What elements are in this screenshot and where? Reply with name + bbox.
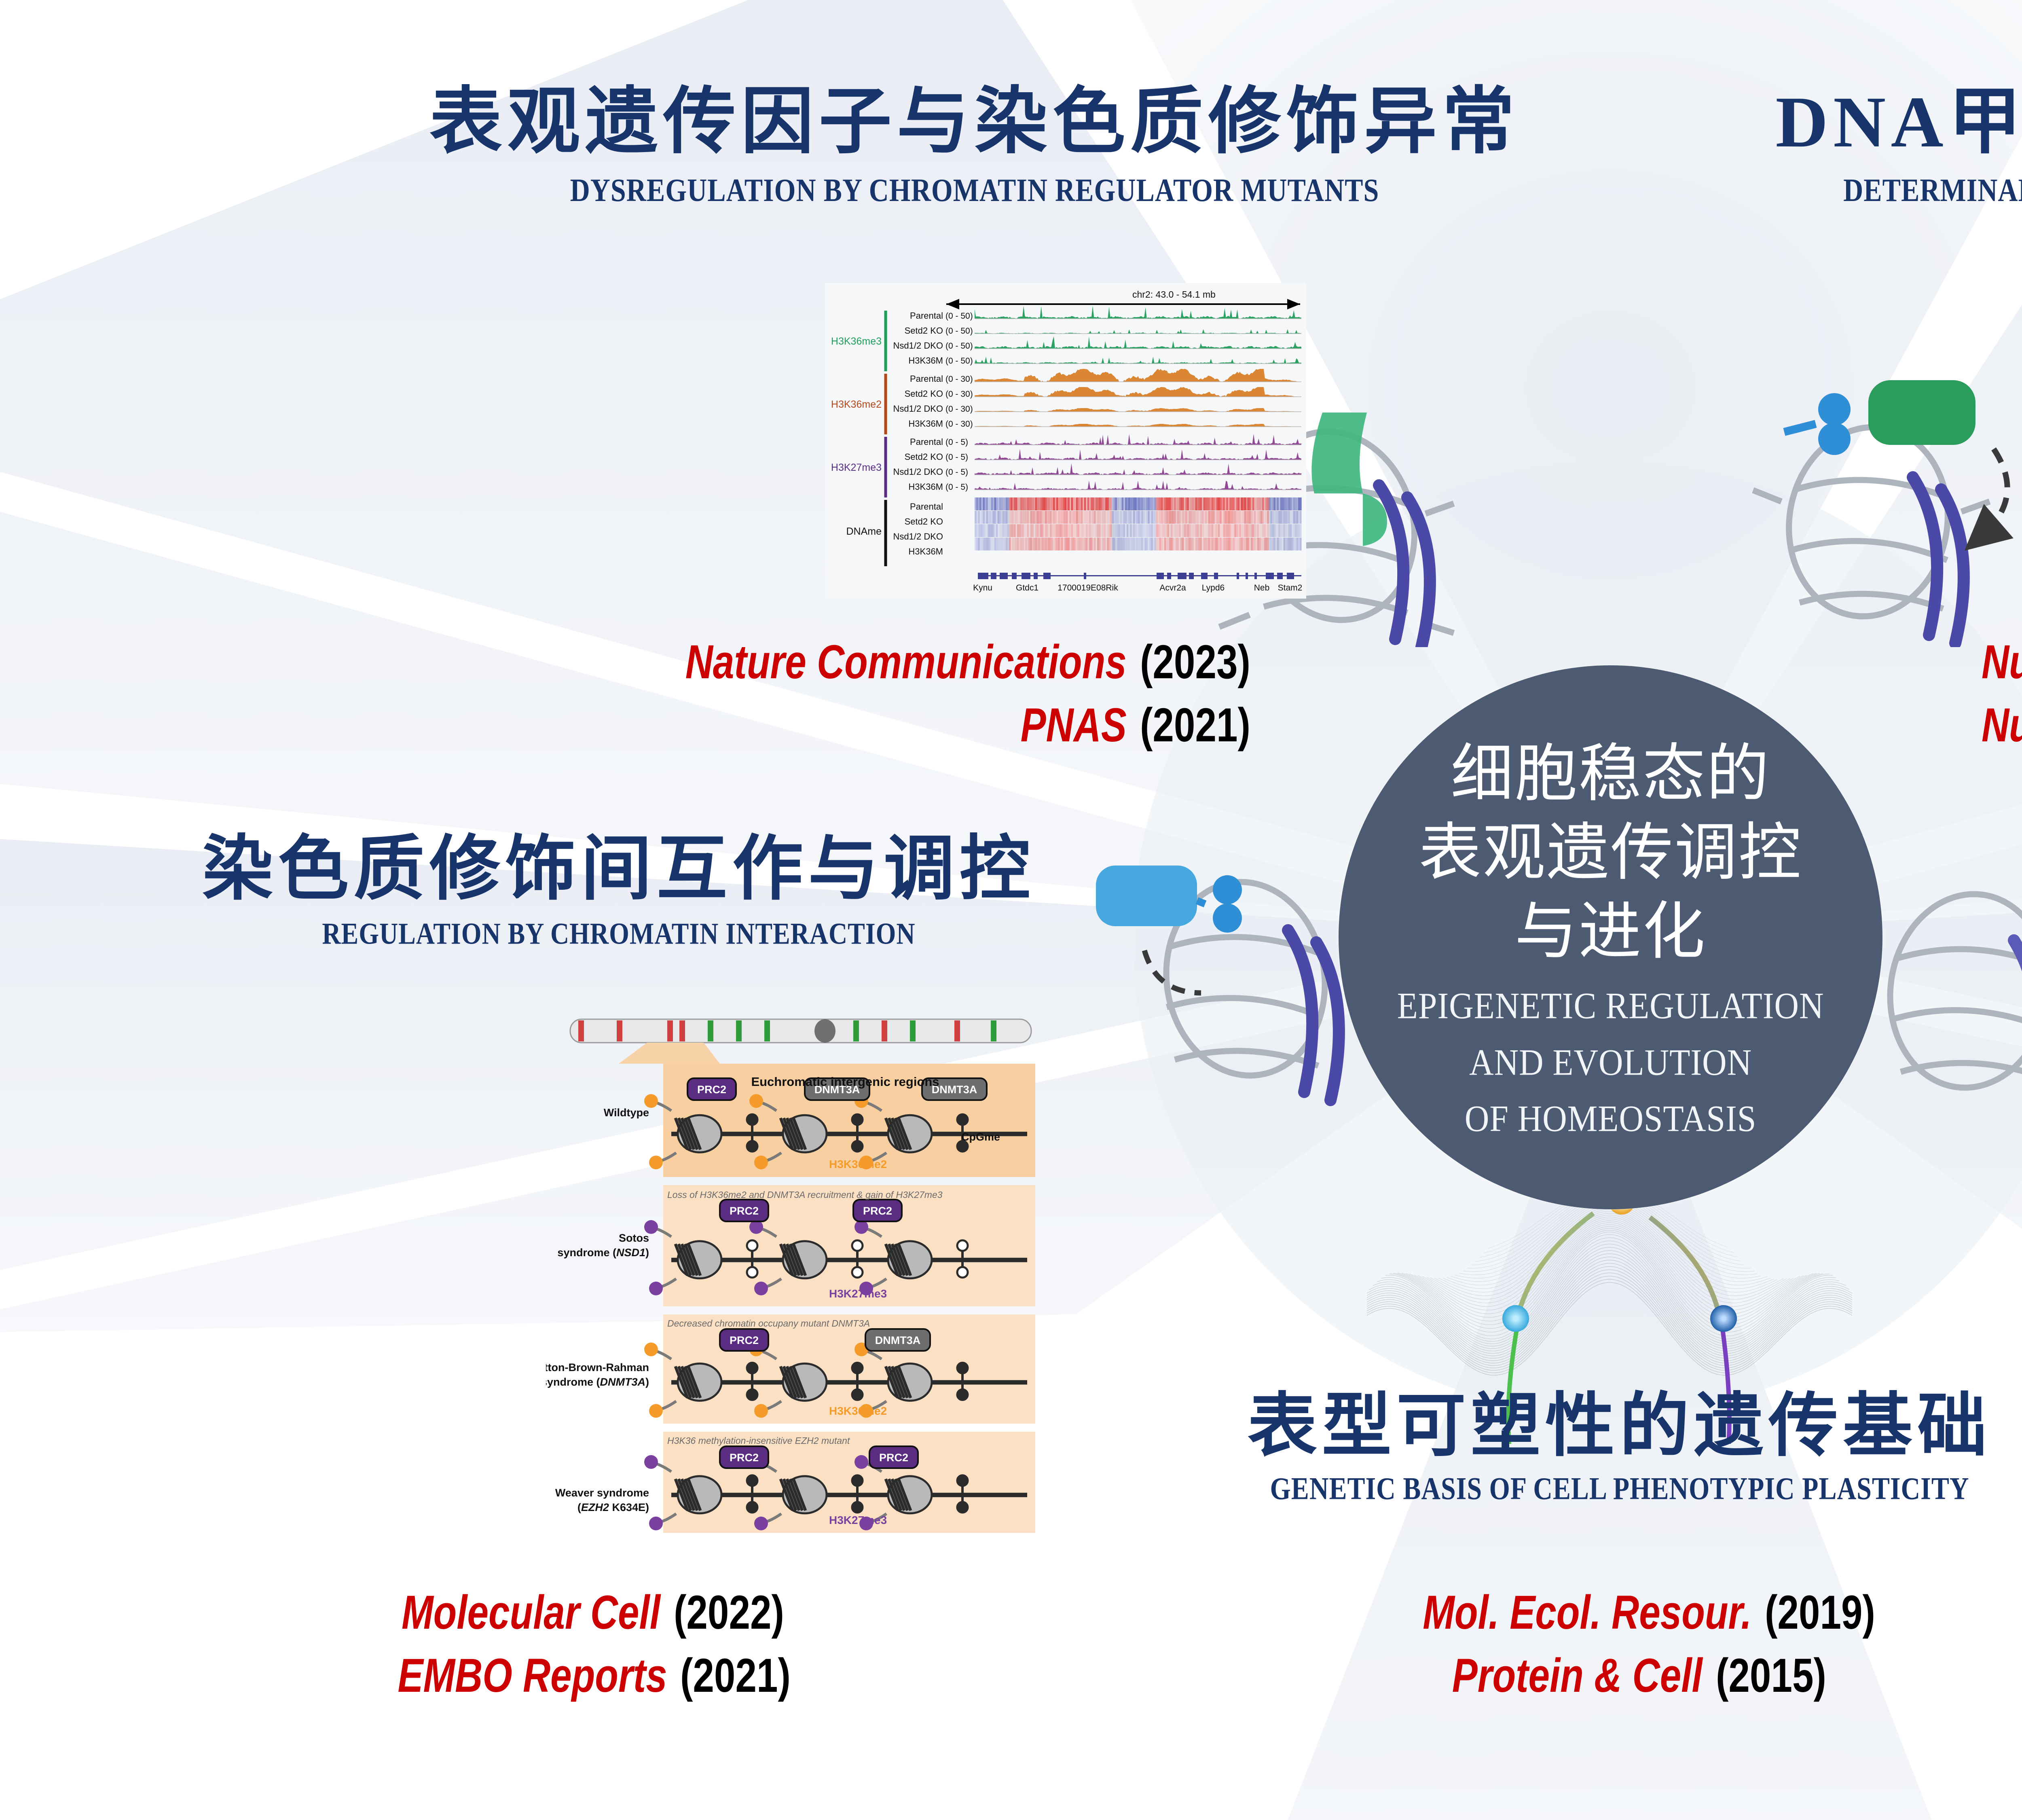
gene-label: 1700019E08Rik bbox=[1058, 583, 1118, 593]
hub-cn-line-2: 表观遗传调控 bbox=[1419, 813, 1802, 892]
svg-text:Parental: Parental bbox=[910, 374, 943, 384]
synd-header: Euchromatic intergenic regions bbox=[751, 1075, 939, 1089]
svg-text:(0 - 5): (0 - 5) bbox=[945, 453, 968, 462]
svg-text:(0 - 30): (0 - 30) bbox=[945, 404, 973, 414]
gb-locus-label: chr2: 43.0 - 54.1 mb bbox=[1132, 289, 1216, 300]
svg-text:Parental: Parental bbox=[910, 437, 943, 447]
synd-complex-label: PRC2 bbox=[863, 1205, 892, 1217]
synd-mark-label: H3K27me3 bbox=[829, 1287, 887, 1300]
central-hub: 细胞稳态的 表观遗传调控 与进化 EPIGENETIC REGULATION A… bbox=[1339, 665, 1882, 1209]
synd-caption-sotos: Loss of H3K36me2 and DNMT3A recruitment … bbox=[667, 1189, 943, 1200]
hub-cn-line-3: 与进化 bbox=[1514, 892, 1706, 971]
hub-en-line-2: AND EVOLUTION bbox=[1469, 1039, 1752, 1086]
journal-year: (2022) bbox=[674, 1581, 784, 1644]
section-title-en: GENETIC BASIS OF CELL PHENOTYPIC PLASTIC… bbox=[1165, 1471, 2022, 1507]
hub-cn-line-1: 细胞稳态的 bbox=[1451, 734, 1770, 813]
gene-label: Lypd6 bbox=[1202, 583, 1225, 593]
gene-label: Neb bbox=[1254, 583, 1270, 593]
svg-text:(0 - 50): (0 - 50) bbox=[945, 311, 973, 321]
synd-caption-tbrs: Decreased chromatin occupany mutant DNMT… bbox=[667, 1318, 870, 1329]
section-title-cn: 染色质修饰间互作与调控 bbox=[133, 833, 1104, 906]
synd-complex-label: PRC2 bbox=[730, 1205, 759, 1217]
section-dna-methylation: DNA甲基化修饰的分布决定因素 DETERMINANTS OF GENOMIC … bbox=[1682, 85, 2022, 203]
citations-chromatin-interaction: Molecular Cell (2022) EMBO Reports (2021… bbox=[142, 1581, 1007, 1708]
synd-row-label-wildtype: Wildtype bbox=[604, 1107, 649, 1119]
synd-mark-label: H3K36me2 bbox=[829, 1158, 887, 1170]
synd-complex-label: PRC2 bbox=[879, 1452, 908, 1464]
svg-text:syndrome (NSD1): syndrome (NSD1) bbox=[557, 1246, 649, 1259]
svg-text:(0 - 5): (0 - 5) bbox=[945, 468, 968, 477]
svg-text:Parental: Parental bbox=[910, 311, 943, 321]
syndrome-chromatin-panel: PRC2DNMT3ADNMT3AH3K36me2PRC2PRC2H3K27me3… bbox=[546, 1015, 1055, 1541]
synd-complex-label: DNMT3A bbox=[875, 1334, 921, 1346]
synd-complex-label: PRC2 bbox=[697, 1084, 726, 1096]
svg-text:Nsd1/2 DKO: Nsd1/2 DKO bbox=[893, 404, 943, 414]
citation-row: PNAS (2021) bbox=[218, 694, 1278, 757]
journal-year: (2021) bbox=[1140, 694, 1250, 757]
citations-dysregulation: Nature Communications (2023) PNAS (2021) bbox=[218, 631, 1278, 757]
svg-text:H3K36M: H3K36M bbox=[908, 419, 943, 429]
svg-text:H3K36M: H3K36M bbox=[908, 482, 943, 492]
svg-text:Setd2 KO: Setd2 KO bbox=[905, 326, 943, 336]
citations-dna-methylation: Nucleic Acids Research (2025) Nucleic Ac… bbox=[1982, 631, 2022, 757]
section-phenotypic-plasticity: 表型可塑性的遗传基础 GENETIC BASIS OF CELL PHENOTY… bbox=[1165, 1391, 2022, 1502]
gene-label: Kynu bbox=[973, 583, 992, 593]
hub-en-line-1: EPIGENETIC REGULATION bbox=[1397, 982, 1824, 1029]
svg-text:(0 - 50): (0 - 50) bbox=[945, 356, 973, 366]
section-title-cn: 表型可塑性的遗传基础 bbox=[1165, 1391, 2022, 1462]
synd-cpgme-label: CpGme bbox=[961, 1131, 1000, 1143]
svg-text:(0 - 30): (0 - 30) bbox=[945, 389, 973, 399]
citation-row: EMBO Reports (2021) bbox=[142, 1644, 1007, 1708]
svg-text:syndrome (DNMT3A): syndrome (DNMT3A) bbox=[546, 1376, 649, 1388]
gb-group-h3k36me2: H3K36me2 bbox=[831, 399, 882, 410]
journal-name: Molecular Cell bbox=[402, 1581, 660, 1644]
synd-mark-label: H3K36me2 bbox=[829, 1405, 887, 1417]
journal-year: (2019) bbox=[1765, 1581, 1875, 1644]
svg-text:(0 - 30): (0 - 30) bbox=[945, 419, 973, 429]
journal-name: Nucleic Acids Research bbox=[1982, 694, 2022, 757]
journal-name: PNAS bbox=[1021, 694, 1127, 757]
section-title-cn: DNA甲基化修饰的分布决定因素 bbox=[1682, 85, 2022, 159]
svg-text:Nsd1/2 DKO: Nsd1/2 DKO bbox=[893, 341, 943, 351]
journal-name: Nucleic Acids Research bbox=[1982, 631, 2022, 694]
synd-mark-label: H3K27me3 bbox=[829, 1514, 887, 1526]
gene-label: Stam2 bbox=[1278, 583, 1303, 593]
svg-text:Nsd1/2 DKO: Nsd1/2 DKO bbox=[893, 467, 943, 477]
synd-caption-weaver: H3K36 methylation-insensitive EZH2 mutan… bbox=[667, 1435, 850, 1446]
svg-text:(0 - 50): (0 - 50) bbox=[945, 341, 973, 351]
svg-text:H3K36M: H3K36M bbox=[908, 546, 943, 557]
journal-name: Nature Communications bbox=[685, 631, 1127, 694]
svg-text:Nsd1/2 DKO: Nsd1/2 DKO bbox=[893, 531, 943, 542]
journal-year: (2023) bbox=[1140, 631, 1250, 694]
synd-row-label-tbrs: Tatton-Brown-Rahman bbox=[546, 1361, 649, 1373]
section-title-en: DYSREGULATION BY CHROMATIN REGULATOR MUT… bbox=[356, 171, 1593, 209]
section-chromatin-interaction: 染色质修饰间互作与调控 REGULATION BY CHROMATIN INTE… bbox=[133, 833, 1104, 946]
synd-row-label-sotos: Sotos bbox=[619, 1232, 649, 1244]
section-title-cn: 表观遗传因子与染色质修饰异常 bbox=[356, 85, 1593, 159]
svg-text:Parental: Parental bbox=[910, 502, 943, 512]
gene-label: Acvr2a bbox=[1159, 583, 1186, 593]
citation-row: Molecular Cell (2022) bbox=[142, 1581, 1007, 1644]
svg-text:Setd2 KO: Setd2 KO bbox=[905, 389, 943, 399]
synd-complex-label: PRC2 bbox=[730, 1334, 759, 1346]
journal-year: (2021) bbox=[680, 1644, 791, 1708]
citation-row: Nature Communications (2023) bbox=[218, 631, 1278, 694]
synd-row-label-weaver: Weaver syndrome bbox=[555, 1487, 649, 1499]
gb-group-h3k36me3: H3K36me3 bbox=[831, 336, 882, 347]
journal-name: Mol. Ecol. Resour. bbox=[1423, 1581, 1751, 1644]
svg-text:(EZH2 K634E): (EZH2 K634E) bbox=[577, 1501, 649, 1513]
gene-label: Gtdc1 bbox=[1016, 583, 1038, 593]
svg-text:Setd2 KO: Setd2 KO bbox=[905, 452, 943, 462]
synd-complex-label: PRC2 bbox=[730, 1452, 759, 1464]
citation-row: Protein & Cell (2015) bbox=[1173, 1644, 2022, 1708]
citation-row: Mol. Ecol. Resour. (2019) bbox=[1173, 1581, 2022, 1644]
citations-phenotypic-plasticity: Mol. Ecol. Resour. (2019) Protein & Cell… bbox=[1173, 1581, 2022, 1708]
journal-name: Protein & Cell bbox=[1452, 1644, 1703, 1708]
svg-text:(0 - 5): (0 - 5) bbox=[945, 438, 968, 447]
hub-en-line-3: OF HOMEOSTASIS bbox=[1465, 1096, 1757, 1143]
genome-browser-panel: chr2: 43.0 - 54.1 mb H3K36me3 H3K36me2 H… bbox=[825, 283, 1306, 599]
section-title-en: REGULATION BY CHROMATIN INTERACTION bbox=[133, 916, 1104, 951]
svg-text:H3K36M: H3K36M bbox=[908, 356, 943, 366]
section-dysregulation: 表观遗传因子与染色质修饰异常 DYSREGULATION BY CHROMATI… bbox=[356, 85, 1593, 203]
journal-year: (2015) bbox=[1716, 1644, 1826, 1708]
svg-text:(0 - 30): (0 - 30) bbox=[945, 375, 973, 384]
citation-row: Nucleic Acids Research (2017) bbox=[1982, 694, 2022, 757]
svg-text:(0 - 50): (0 - 50) bbox=[945, 326, 973, 336]
gb-group-h3k27me3: H3K27me3 bbox=[831, 462, 882, 473]
nucleosome-glyph-top-right bbox=[1735, 356, 2022, 647]
svg-text:Setd2 KO: Setd2 KO bbox=[905, 516, 943, 527]
section-title-en: DETERMINANTS OF GENOMIC DISTRIBUTION OF … bbox=[1682, 171, 2022, 209]
svg-text:(0 - 5): (0 - 5) bbox=[945, 483, 968, 492]
journal-name: EMBO Reports bbox=[398, 1644, 667, 1708]
citation-row: Nucleic Acids Research (2025) bbox=[1982, 631, 2022, 694]
gb-group-dname: DNAme bbox=[846, 526, 882, 537]
